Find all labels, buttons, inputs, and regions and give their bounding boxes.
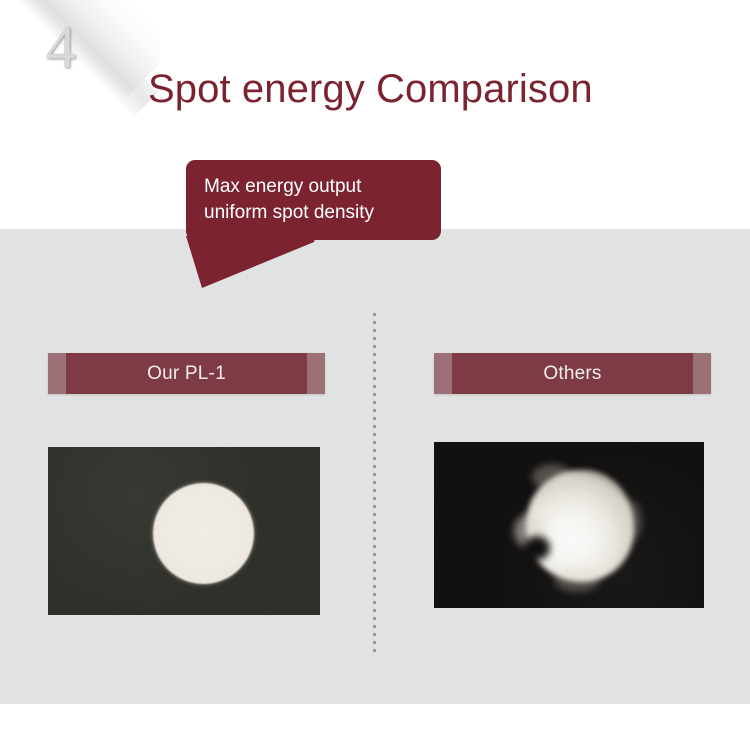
page-title: Spot energy Comparison — [148, 66, 593, 112]
spot-fringe-top — [532, 464, 572, 490]
comparison-panel-others: Others — [434, 353, 711, 608]
spot-notch-left — [524, 536, 550, 560]
corner-ribbon-shape — [0, 0, 160, 100]
vertical-dotted-divider — [373, 313, 376, 656]
panel-banner-ours: Our PL-1 — [48, 353, 325, 394]
panel-label-ours: Our PL-1 — [48, 353, 325, 394]
laser-spot-uniform-shape — [153, 483, 254, 584]
callout-bubble: Max energy output uniform spot density — [186, 160, 441, 240]
spot-photo-ours — [48, 447, 320, 615]
comparison-panel-ours: Our PL-1 — [48, 353, 325, 615]
panel-label-others: Others — [434, 353, 711, 394]
slide-root: 4 Spot energy Comparison Max energy outp… — [0, 0, 750, 750]
corner-fold-decoration — [0, 0, 160, 155]
callout-tail-icon — [186, 236, 316, 292]
spot-photo-others — [434, 442, 704, 608]
laser-spot-uneven-shape — [526, 470, 634, 582]
slide-number: 4 — [46, 17, 76, 77]
spot-fringe-bottom — [554, 566, 600, 592]
panel-banner-others: Others — [434, 353, 711, 394]
corner-ribbon-shadow — [0, 0, 158, 116]
callout-line-2: uniform spot density — [204, 200, 441, 226]
spot-fringe-right — [616, 500, 642, 542]
callout-line-1: Max energy output — [204, 174, 441, 200]
